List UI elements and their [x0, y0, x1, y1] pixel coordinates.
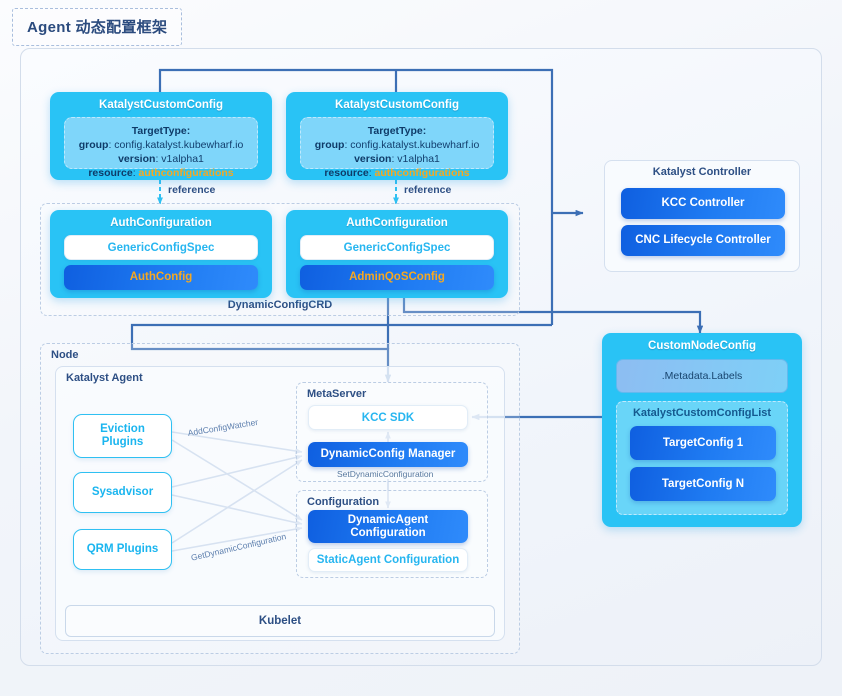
diagram-title-text: Agent 动态配置框架 — [27, 16, 167, 37]
katalyst-controller-caption: Katalyst Controller — [605, 166, 799, 178]
kubelet-strip[interactable]: Kubelet — [65, 605, 495, 637]
kcc-card-1-targettype: TargetType: group: config.katalyst.kubew… — [64, 117, 258, 169]
set-dynamic-configuration-label: SetDynamicConfiguration — [337, 469, 433, 479]
auth-card-1-generic-config-spec[interactable]: GenericConfigSpec — [64, 235, 258, 260]
kcc-card-1-row-0-key: group — [79, 139, 109, 151]
reference-label-2: reference — [404, 184, 451, 196]
target-config-1[interactable]: TargetConfig 1 — [630, 426, 776, 460]
reference-label-1: reference — [168, 184, 215, 196]
diagram-title: Agent 动态配置框架 — [12, 8, 182, 46]
kcc-card-2-row-2-key: resource — [324, 167, 368, 179]
kcc-card-2-row-1-value: v1alpha1 — [397, 153, 440, 165]
kcc-card-2-targettype: TargetType: group: config.katalyst.kubew… — [300, 117, 494, 169]
kcc-card-2-header: KatalystCustomConfig — [286, 99, 508, 111]
dynamic-agent-configuration-label: DynamicAgentConfiguration — [348, 514, 429, 540]
dynamic-config-manager-card[interactable]: DynamicConfig Manager — [308, 442, 468, 467]
kcc-card-1-spec-title: TargetType: — [132, 125, 191, 137]
katalyst-controller-group: Katalyst Controller KCC Controller CNC L… — [604, 160, 800, 272]
custom-node-config-header: CustomNodeConfig — [602, 340, 802, 352]
cnc-lifecycle-controller-item[interactable]: CNC Lifecycle Controller — [621, 225, 785, 256]
static-agent-configuration-card[interactable]: StaticAgent Configuration — [308, 548, 468, 572]
kcc-card-1-row-2-value: authconfigurations — [139, 167, 234, 179]
metaserver-group: MetaServer — [296, 382, 488, 482]
eviction-plugins-card[interactable]: EvictionPlugins — [73, 414, 172, 458]
cnc-metadata-labels[interactable]: .Metadata.Labels — [616, 359, 788, 393]
kcc-card-2-row-2-value: authconfigurations — [375, 167, 470, 179]
auth-configuration-card-2[interactable]: AuthConfiguration GenericConfigSpec Admi… — [286, 210, 508, 298]
kcc-card-2-row-0-value: config.katalyst.kubewharf.io — [350, 139, 479, 151]
kcc-card-2-row-1-key: version — [354, 153, 391, 165]
diagram-canvas: Agent 动态配置框架 — [0, 0, 842, 696]
sysadvisor-card[interactable]: Sysadvisor — [73, 472, 172, 513]
kcc-sdk-card[interactable]: KCC SDK — [308, 405, 468, 430]
node-caption: Node — [51, 349, 79, 361]
target-config-n[interactable]: TargetConfig N — [630, 467, 776, 501]
auth-card-2-generic-config-spec[interactable]: GenericConfigSpec — [300, 235, 494, 260]
katalyst-custom-config-card-1[interactable]: KatalystCustomConfig TargetType: group: … — [50, 92, 272, 180]
auth-card-1-config[interactable]: AuthConfig — [64, 265, 258, 290]
configuration-caption: Configuration — [307, 496, 379, 508]
metaserver-caption: MetaServer — [307, 388, 366, 400]
qrm-plugins-label: QRM Plugins — [87, 543, 159, 556]
katalyst-custom-config-list-group: KatalystCustomConfigList TargetConfig 1 … — [616, 401, 788, 515]
dynamic-agent-configuration-card[interactable]: DynamicAgentConfiguration — [308, 510, 468, 543]
eviction-plugins-label: EvictionPlugins — [100, 423, 145, 449]
auth-card-2-config[interactable]: AdminQoSConfig — [300, 265, 494, 290]
katalyst-custom-config-list-caption: KatalystCustomConfigList — [617, 407, 787, 419]
kcc-card-1-row-2-key: resource — [88, 167, 132, 179]
kcc-card-2-spec-title: TargetType: — [368, 125, 427, 137]
kcc-card-1-row-1-key: version — [118, 153, 155, 165]
auth-configuration-card-1[interactable]: AuthConfiguration GenericConfigSpec Auth… — [50, 210, 272, 298]
qrm-plugins-card[interactable]: QRM Plugins — [73, 529, 172, 570]
sysadvisor-label: Sysadvisor — [92, 486, 153, 499]
auth-card-2-header: AuthConfiguration — [286, 217, 508, 229]
dynamic-config-crd-caption: DynamicConfigCRD — [41, 299, 519, 311]
katalyst-custom-config-card-2[interactable]: KatalystCustomConfig TargetType: group: … — [286, 92, 508, 180]
custom-node-config-card[interactable]: CustomNodeConfig .Metadata.Labels Kataly… — [602, 333, 802, 527]
auth-card-1-header: AuthConfiguration — [50, 217, 272, 229]
katalyst-agent-caption: Katalyst Agent — [66, 372, 143, 384]
kcc-card-1-header: KatalystCustomConfig — [50, 99, 272, 111]
kcc-card-1-row-1-value: v1alpha1 — [161, 153, 204, 165]
kcc-card-2-row-0-key: group — [315, 139, 345, 151]
kcc-controller-item[interactable]: KCC Controller — [621, 188, 785, 219]
kcc-card-1-row-0-value: config.katalyst.kubewharf.io — [114, 139, 243, 151]
